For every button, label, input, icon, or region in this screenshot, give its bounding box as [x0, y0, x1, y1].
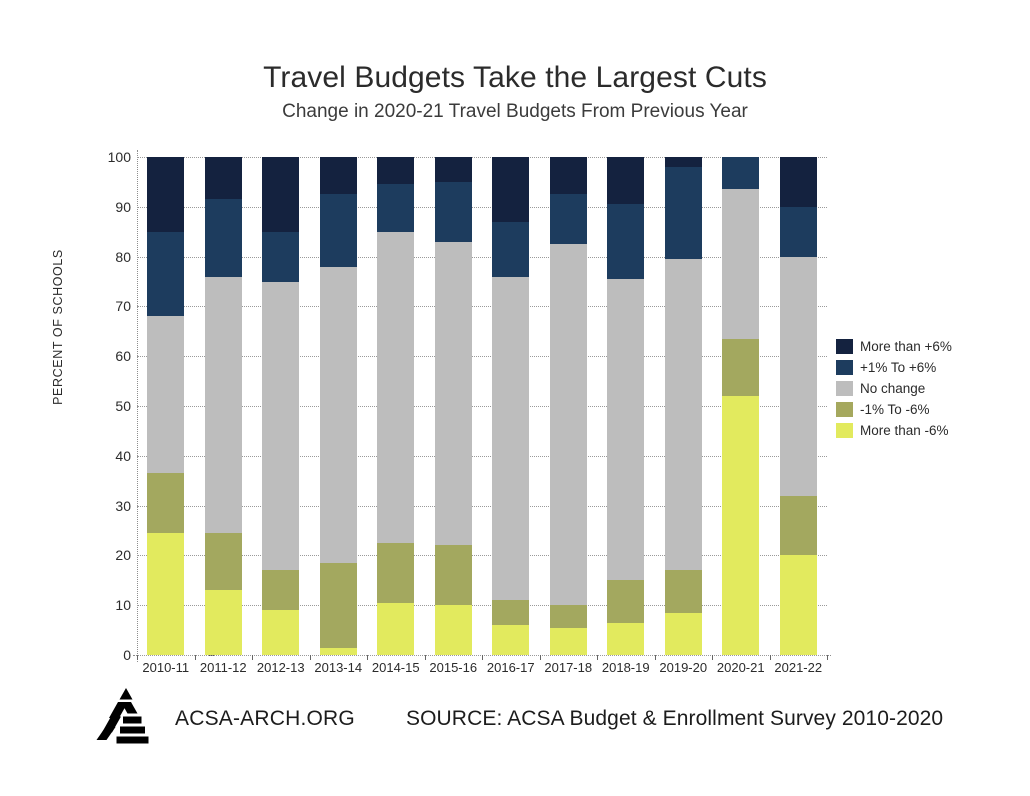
x-axis-tick-label: 2017-18 — [540, 660, 598, 676]
x-axis-tick-label: 2018-19 — [597, 660, 655, 676]
bar-segment[interactable] — [262, 282, 299, 571]
legend-item[interactable]: -1% To -6% — [836, 400, 952, 419]
bar-segment[interactable] — [435, 242, 472, 546]
bar-segment[interactable] — [320, 194, 357, 266]
bar-segment[interactable] — [320, 563, 357, 648]
bar-segment[interactable] — [722, 157, 759, 189]
bar-segment[interactable] — [147, 232, 184, 317]
x-axis-tick-label: 2019-20 — [655, 660, 713, 676]
x-axis-tick-mark — [425, 655, 426, 660]
x-axis-tick-mark — [540, 655, 541, 660]
bar-segment[interactable] — [550, 628, 587, 655]
x-axis-tick-label: 2014-15 — [367, 660, 425, 676]
x-axis-tick-label: 2016-17 — [482, 660, 540, 676]
bar-stack[interactable] — [377, 157, 414, 655]
y-axis-tick-label: 70 — [85, 299, 131, 313]
legend-item[interactable]: +1% To +6% — [836, 358, 952, 377]
bar-segment[interactable] — [492, 277, 529, 601]
bar-segment[interactable] — [665, 259, 702, 570]
bar-segment[interactable] — [320, 267, 357, 563]
bar-segment[interactable] — [377, 157, 414, 184]
bar-segment[interactable] — [780, 555, 817, 655]
bar-segment[interactable] — [665, 167, 702, 259]
chart-legend: More than +6%+1% To +6%No change-1% To -… — [836, 337, 952, 442]
y-axis-tick-label: 90 — [85, 200, 131, 214]
bar-segment[interactable] — [262, 157, 299, 232]
x-axis-tick-mark — [597, 655, 598, 660]
bar-segment[interactable] — [607, 580, 644, 622]
bar-segment[interactable] — [607, 204, 644, 279]
y-axis-tick-label: 40 — [85, 449, 131, 463]
site-url-text: ACSA-ARCH.ORG — [175, 707, 355, 731]
y-axis-tick-label: 80 — [85, 250, 131, 264]
bar-segment[interactable] — [147, 533, 184, 655]
bar-stack[interactable] — [722, 157, 759, 655]
bar-segment[interactable] — [320, 648, 357, 655]
y-axis-title: PERCENT OF SCHOOLS — [51, 227, 65, 427]
x-axis-tick-mark — [770, 655, 771, 660]
bar-segment[interactable] — [377, 184, 414, 231]
bar-stack[interactable] — [492, 157, 529, 655]
bar-segment[interactable] — [205, 157, 242, 199]
bar-segment[interactable] — [492, 222, 529, 277]
y-axis-tick-label: 20 — [85, 548, 131, 562]
bar-segment[interactable] — [665, 157, 702, 167]
bar-stack[interactable] — [665, 157, 702, 655]
bar-segment[interactable] — [262, 610, 299, 655]
x-axis-tick-mark — [195, 655, 196, 660]
legend-label: More than -6% — [860, 423, 949, 438]
bar-stack[interactable] — [320, 157, 357, 655]
acsa-logo-icon — [96, 688, 156, 751]
y-axis-tick-label: 10 — [85, 598, 131, 612]
x-axis-tick-label: 2020-21 — [712, 660, 770, 676]
bar-segment[interactable] — [780, 257, 817, 496]
y-axis-tick-label: 30 — [85, 499, 131, 513]
bar-segment[interactable] — [262, 232, 299, 282]
bar-stack[interactable] — [147, 157, 184, 655]
bar-segment[interactable] — [435, 605, 472, 655]
legend-label: +1% To +6% — [860, 360, 936, 375]
bar-segment[interactable] — [205, 533, 242, 590]
x-axis-tick-label: 2013-14 — [310, 660, 368, 676]
bar-segment[interactable] — [262, 570, 299, 610]
bar-segment[interactable] — [780, 157, 817, 207]
y-axis-tick-label: 100 — [85, 150, 131, 164]
x-axis-tick-label: 2015-16 — [425, 660, 483, 676]
bar-segment[interactable] — [147, 157, 184, 232]
legend-swatch — [836, 381, 853, 396]
legend-swatch — [836, 360, 853, 375]
bar-segment[interactable] — [147, 316, 184, 473]
x-axis-tick-mark — [482, 655, 483, 660]
bar-segment[interactable] — [377, 603, 414, 655]
bar-segment[interactable] — [492, 157, 529, 222]
bar-segment[interactable] — [780, 207, 817, 257]
bar-stack[interactable] — [205, 157, 242, 655]
x-axis-tick-mark — [367, 655, 368, 660]
bar-segment[interactable] — [377, 232, 414, 543]
plot-area — [137, 157, 827, 655]
bar-stack[interactable] — [607, 157, 644, 655]
bar-segment[interactable] — [320, 157, 357, 194]
bar-segment[interactable] — [435, 182, 472, 242]
bar-segment[interactable] — [607, 157, 644, 204]
y-axis-tick-label: 50 — [85, 399, 131, 413]
bar-segment[interactable] — [550, 157, 587, 194]
legend-label: No change — [860, 381, 925, 396]
bar-stack[interactable] — [550, 157, 587, 655]
bar-segment[interactable] — [722, 189, 759, 338]
x-axis-tick-label: 2011-12 — [195, 660, 253, 676]
footer: ACSA-ARCH.ORG SOURCE: ACSA Budget & Enro… — [0, 688, 1030, 758]
x-axis-tick-label: 2010-11 — [137, 660, 195, 676]
source-text: SOURCE: ACSA Budget & Enrollment Survey … — [406, 707, 943, 731]
legend-swatch — [836, 402, 853, 417]
bar-segment[interactable] — [492, 625, 529, 655]
legend-label: More than +6% — [860, 339, 952, 354]
x-axis-tick-label: 2012-13 — [252, 660, 310, 676]
x-axis-tick-mark — [252, 655, 253, 660]
legend-label: -1% To -6% — [860, 402, 930, 417]
bar-segment[interactable] — [665, 570, 702, 612]
legend-swatch — [836, 423, 853, 438]
bar-segment[interactable] — [205, 199, 242, 276]
bar-segment[interactable] — [607, 279, 644, 580]
bar-stack[interactable] — [780, 157, 817, 655]
bar-segment[interactable] — [435, 545, 472, 605]
bar-segment[interactable] — [205, 277, 242, 533]
legend-swatch — [836, 339, 853, 354]
x-axis-tick-mark — [655, 655, 656, 660]
bar-segment[interactable] — [665, 613, 702, 655]
bar-segment[interactable] — [205, 590, 242, 655]
bar-segment[interactable] — [377, 543, 414, 603]
title-block: Travel Budgets Take the Largest Cuts Cha… — [0, 60, 1030, 125]
bar-segment[interactable] — [722, 339, 759, 396]
bar-segment[interactable] — [492, 600, 529, 625]
page-title: Travel Budgets Take the Largest Cuts — [0, 60, 1030, 96]
y-axis-tick-label: 60 — [85, 349, 131, 363]
bar-stack[interactable] — [435, 157, 472, 655]
bar-segment[interactable] — [435, 157, 472, 182]
x-axis-tick-mark — [827, 655, 828, 660]
legend-item[interactable]: No change — [836, 379, 952, 398]
x-axis-tick-label: 2021-22 — [770, 660, 828, 676]
chart-subtitle: Change in 2020-21 Travel Budgets From Pr… — [0, 99, 1030, 125]
legend-item[interactable]: More than -6% — [836, 421, 952, 440]
bar-stack[interactable] — [262, 157, 299, 655]
legend-item[interactable]: More than +6% — [836, 337, 952, 356]
bar-segment[interactable] — [550, 244, 587, 605]
bar-segment[interactable] — [550, 194, 587, 244]
x-axis-tick-mark — [310, 655, 311, 660]
x-axis-tick-mark — [137, 655, 138, 660]
bar-segment[interactable] — [722, 396, 759, 655]
bar-segment[interactable] — [780, 496, 817, 556]
y-axis-tick-label: 0 — [85, 648, 131, 662]
y-axis-tick-labels: 0102030405060708090100 — [77, 157, 131, 655]
bar-segment[interactable] — [147, 473, 184, 533]
bar-segment[interactable] — [550, 605, 587, 627]
x-axis-tick-mark — [712, 655, 713, 660]
bar-segment[interactable] — [607, 623, 644, 655]
